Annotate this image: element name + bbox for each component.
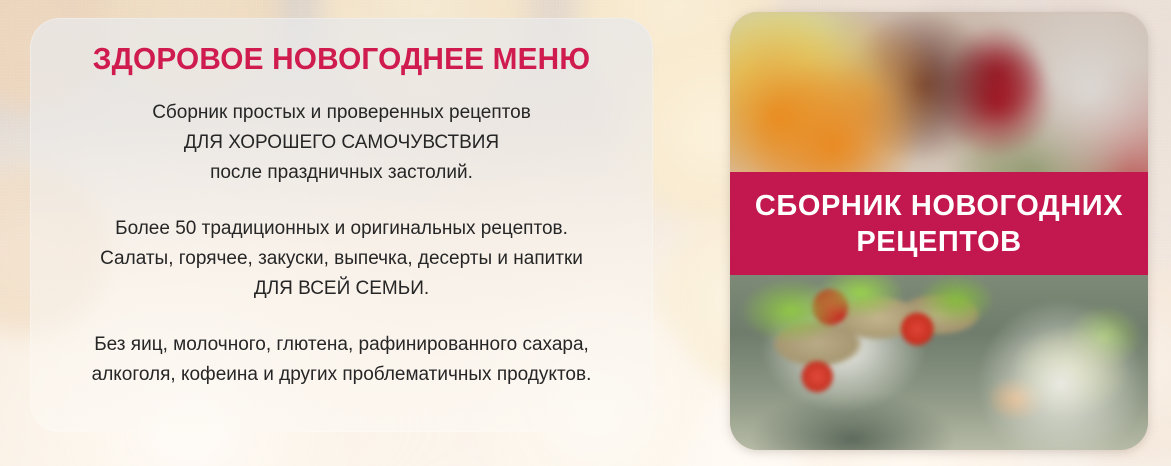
promo-banner: ЗДОРОВОЕ НОВОГОДНЕЕ МЕНЮ Сборник простых… (0, 0, 1171, 466)
promo-paragraph-3: Без яиц, молочного, глютена, рафинирован… (56, 330, 627, 390)
promo-paragraph-1: Сборник простых и проверенных рецептов Д… (56, 98, 627, 188)
book-cover-title: СБОРНИК НОВОГОДНИХ РЕЦЕПТОВ (755, 188, 1123, 260)
book-cover-title-line-2: РЕЦЕПТОВ (755, 224, 1123, 260)
promo-paragraph-1-line-1: Сборник простых и проверенных рецептов (56, 98, 627, 128)
promo-paragraph-2-line-1: Более 50 традиционных и оригинальных рец… (56, 214, 627, 244)
promo-paragraph-2: Более 50 традиционных и оригинальных рец… (56, 214, 627, 304)
fruit-bowl-photo (730, 12, 1148, 185)
promo-paragraph-2-line-3: ДЛЯ ВСЕЙ СЕМЬИ. (56, 274, 627, 304)
promo-paragraph-2-line-2: Салаты, горячее, закуски, выпечка, десер… (56, 244, 627, 274)
page-title: ЗДОРОВОЕ НОВОГОДНЕЕ МЕНЮ (67, 32, 615, 76)
book-cover-title-line-1: СБОРНИК НОВОГОДНИХ (755, 188, 1123, 224)
promo-text-card: ЗДОРОВОЕ НОВОГОДНЕЕ МЕНЮ Сборник простых… (30, 18, 653, 432)
book-cover-image[interactable]: СБОРНИК НОВОГОДНИХ РЕЦЕПТОВ (730, 12, 1148, 450)
promo-paragraph-3-line-2: алкоголя, кофеина и других проблематичны… (56, 360, 627, 390)
promo-paragraph-1-line-2: ДЛЯ ХОРОШЕГО САМОЧУВСТВИЯ (56, 128, 627, 158)
promo-paragraph-1-line-3: после праздничных застолий. (56, 158, 627, 188)
book-cover-title-band: СБОРНИК НОВОГОДНИХ РЕЦЕПТОВ (730, 172, 1148, 275)
salad-plates-photo (730, 270, 1148, 450)
promo-paragraph-3-line-1: Без яиц, молочного, глютена, рафинирован… (56, 330, 627, 360)
promo-text-card-inner: ЗДОРОВОЕ НОВОГОДНЕЕ МЕНЮ Сборник простых… (30, 18, 653, 432)
